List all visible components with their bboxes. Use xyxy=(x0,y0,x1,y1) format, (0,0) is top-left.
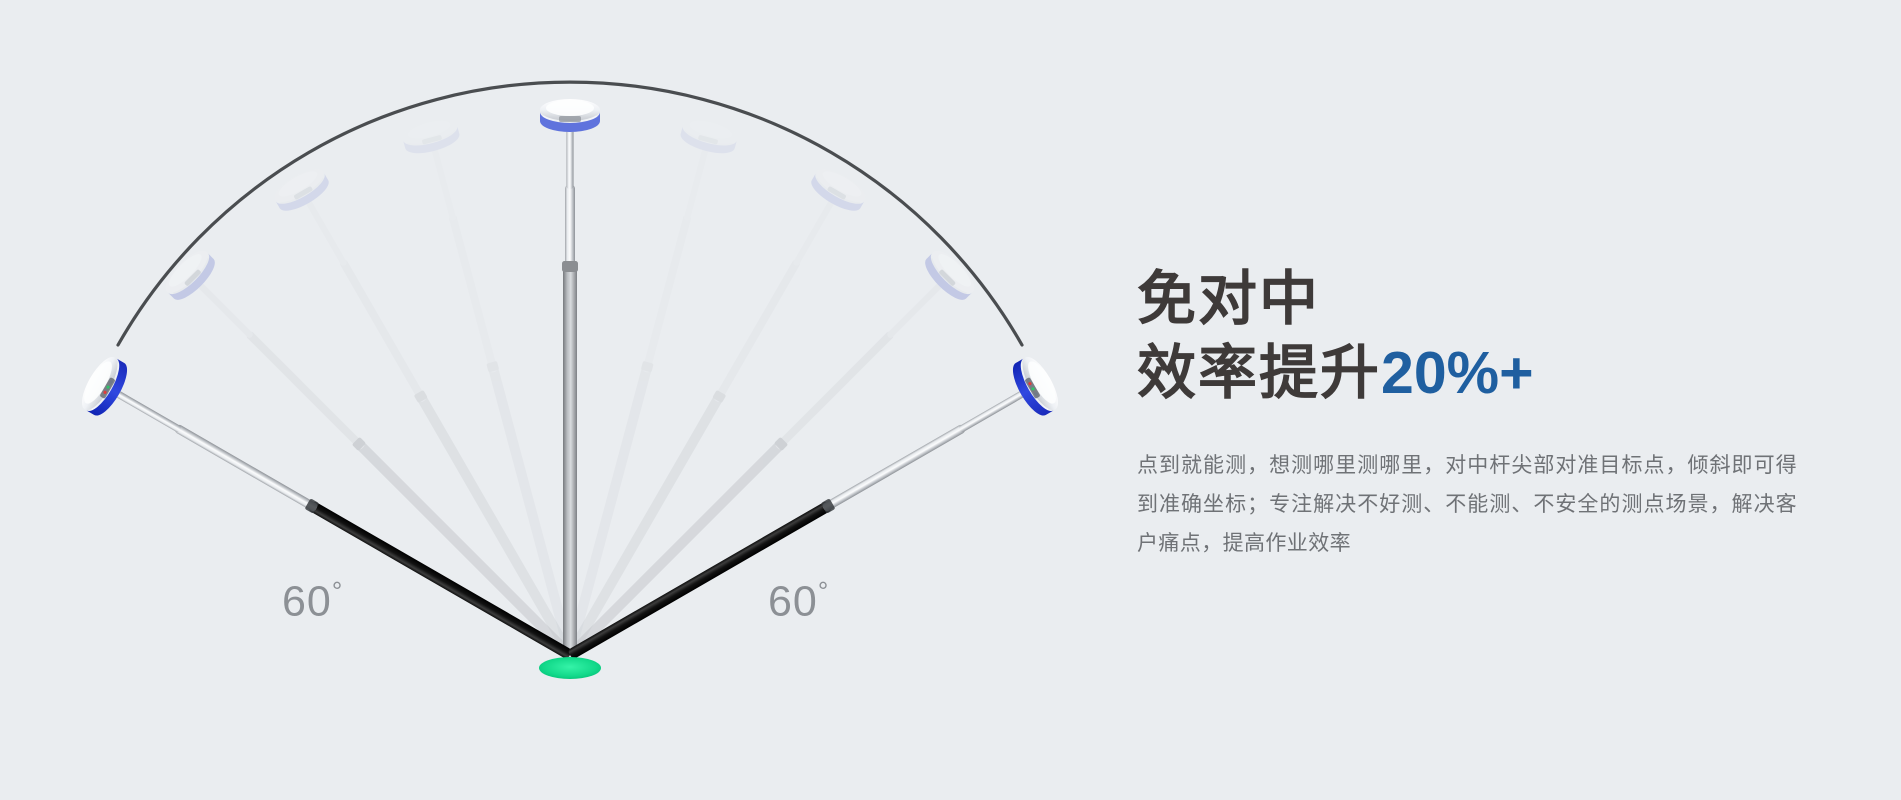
copy-block: 免对中 效率提升20%+ 点到就能测，想测哪里测哪里，对中杆尖部对准目标点，倾斜… xyxy=(1137,262,1837,584)
angle-left-value: 60 xyxy=(282,577,332,625)
headline-line-2: 效率提升20%+ xyxy=(1137,336,1837,410)
pole-left-60 xyxy=(75,352,585,681)
headline-prefix: 效率提升 xyxy=(1137,340,1381,406)
body-paragraph: 点到就能测，想测哪里测哪里，对中杆尖部对准目标点，倾斜即可得到准确坐标；专注解决… xyxy=(1137,446,1797,563)
angle-right-value: 60 xyxy=(768,577,818,625)
headline-line-1: 免对中 xyxy=(1137,262,1837,336)
degree-symbol-left: ° xyxy=(332,576,343,606)
gnss-pole-fan-illustration: 60° 60° xyxy=(0,0,1060,800)
angle-label-left: 60° xyxy=(282,578,343,623)
headline-accent-metric: 20%+ xyxy=(1381,340,1534,406)
banner-root: 60° 60° 免对中 效率提升20%+ 点到就能测，想测哪里测哪里，对中杆尖部… xyxy=(0,0,1901,800)
degree-symbol-right: ° xyxy=(818,576,829,606)
pole-right-60 xyxy=(555,352,1060,681)
angle-label-right: 60° xyxy=(768,578,829,623)
ground-pivot-marker xyxy=(539,657,601,679)
